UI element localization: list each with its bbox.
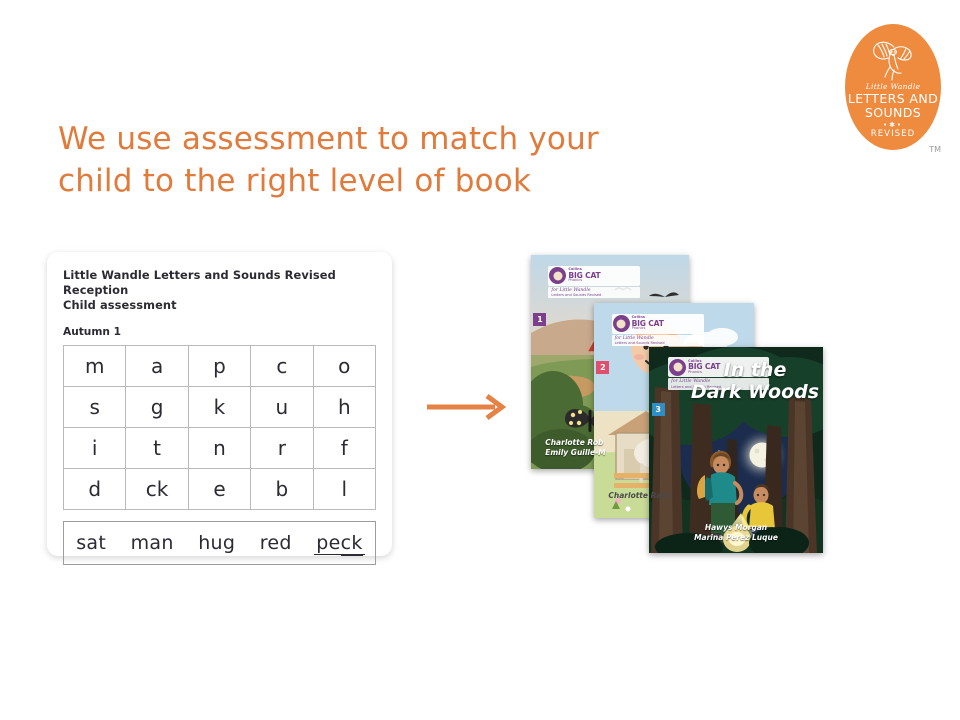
book-authors: Charlotte Rob Emily Guille-M [531, 438, 689, 458]
table-row: i t n r f [64, 428, 376, 469]
logo-oval-background: Little Wandle LETTERS AND SOUNDS •✱• REV… [845, 24, 941, 150]
grid-cell: o [313, 346, 375, 387]
book-band-number: 3 [652, 403, 665, 416]
page-title: We use assessment to match your child to… [58, 118, 678, 202]
little-wandle-logo: Little Wandle LETTERS AND SOUNDS •✱• REV… [845, 24, 941, 150]
table-row: d ck e b l [64, 469, 376, 510]
banner-sub-label: Letters and Sounds Revised [615, 341, 702, 345]
grid-cell: e [188, 469, 250, 510]
grid-cell: k [188, 387, 250, 428]
book-author-line-2: Emily Guille-M [545, 448, 689, 458]
book-band-number: 2 [596, 361, 609, 374]
little-wandle-banner: for Little Wandle Letters and Sounds Rev… [548, 287, 640, 298]
table-row: m a p c o [64, 346, 376, 387]
logo-script-name: Little Wandle [845, 82, 941, 91]
grid-cell: p [188, 346, 250, 387]
word-item: sat [74, 532, 108, 554]
grid-cell: n [188, 428, 250, 469]
page-title-line-2: child to the right level of book [58, 160, 678, 202]
book-title: In the Dark Woods [649, 359, 823, 403]
book-author-line-1: Charlotte Rob [545, 438, 689, 448]
trademark-symbol: TM [929, 145, 941, 154]
book-title-line-2: Dark Woods [687, 381, 823, 403]
grid-cell: b [251, 469, 313, 510]
book-author-line-2: Marina Perez Luque [649, 533, 823, 543]
owl-icon [864, 37, 922, 83]
collins-big-cat-branding: Collins BIG CAT Phonics for Little Wandl… [548, 266, 640, 298]
big-cat-logo-block: Collins BIG CAT Phonics [612, 314, 705, 334]
phoneme-grid: m a p c o s g k u h i t n r f d [63, 345, 376, 510]
grid-cell: t [126, 428, 188, 469]
grid-cell: c [251, 346, 313, 387]
digraph-underline: ck [341, 532, 363, 556]
banner-sub-label: Letters and Sounds Revised [551, 293, 637, 297]
logo-main-line-2: SOUNDS [845, 106, 941, 120]
word-item: hug [196, 532, 237, 554]
right-arrow-icon [425, 392, 511, 422]
word-item-with-digraph: peck [314, 532, 364, 555]
book-author-line-1: Hawys Morgan [649, 523, 823, 533]
grid-cell: a [126, 346, 188, 387]
assessment-heading-line-2: Child assessment [63, 298, 376, 313]
book-band-number: 1 [533, 313, 546, 326]
word-item: red [258, 532, 294, 554]
assessment-heading-line-1: Little Wandle Letters and Sounds Revised… [63, 268, 376, 298]
book-title-line-1: In the [687, 359, 823, 381]
logo-main-text: LETTERS AND SOUNDS [845, 92, 941, 120]
word-item: man [129, 532, 176, 554]
assessment-term-label: Autumn 1 [63, 326, 376, 338]
book-author-line-1: Charlotte Raby [608, 491, 754, 501]
grid-cell: h [313, 387, 375, 428]
phonics-label: Phonics [632, 327, 664, 331]
logo-main-line-1: LETTERS AND [845, 92, 941, 106]
assessment-card: Little Wandle Letters and Sounds Revised… [47, 252, 392, 556]
grid-cell: r [251, 428, 313, 469]
lion-icon [549, 267, 566, 284]
grid-cell: m [64, 346, 126, 387]
page-title-line-1: We use assessment to match your [58, 118, 678, 160]
grid-cell: i [64, 428, 126, 469]
lion-icon [613, 315, 630, 332]
grid-cell: d [64, 469, 126, 510]
logo-revised-label: REVISED [845, 129, 941, 139]
book-authors: Charlotte Raby [594, 491, 754, 501]
grid-cell: g [126, 387, 188, 428]
phonics-label: Phonics [568, 279, 600, 283]
table-row: s g k u h [64, 387, 376, 428]
grid-cell: u [251, 387, 313, 428]
big-cat-logo-block: Collins BIG CAT Phonics [548, 266, 640, 286]
word-stem: pe [316, 532, 340, 554]
grid-cell: ck [126, 469, 188, 510]
grid-cell: f [313, 428, 375, 469]
book-authors: Hawys Morgan Marina Perez Luque [649, 523, 823, 543]
grid-cell: s [64, 387, 126, 428]
little-wandle-banner: for Little Wandle Letters and Sounds Rev… [612, 335, 705, 346]
collins-big-cat-branding: Collins BIG CAT Phonics for Little Wandl… [612, 314, 705, 346]
word-reading-row: sat man hug red peck [63, 521, 376, 565]
logo-dots-ornament: •✱• [845, 122, 941, 129]
grid-cell: l [313, 469, 375, 510]
assessment-heading: Little Wandle Letters and Sounds Revised… [63, 268, 376, 313]
